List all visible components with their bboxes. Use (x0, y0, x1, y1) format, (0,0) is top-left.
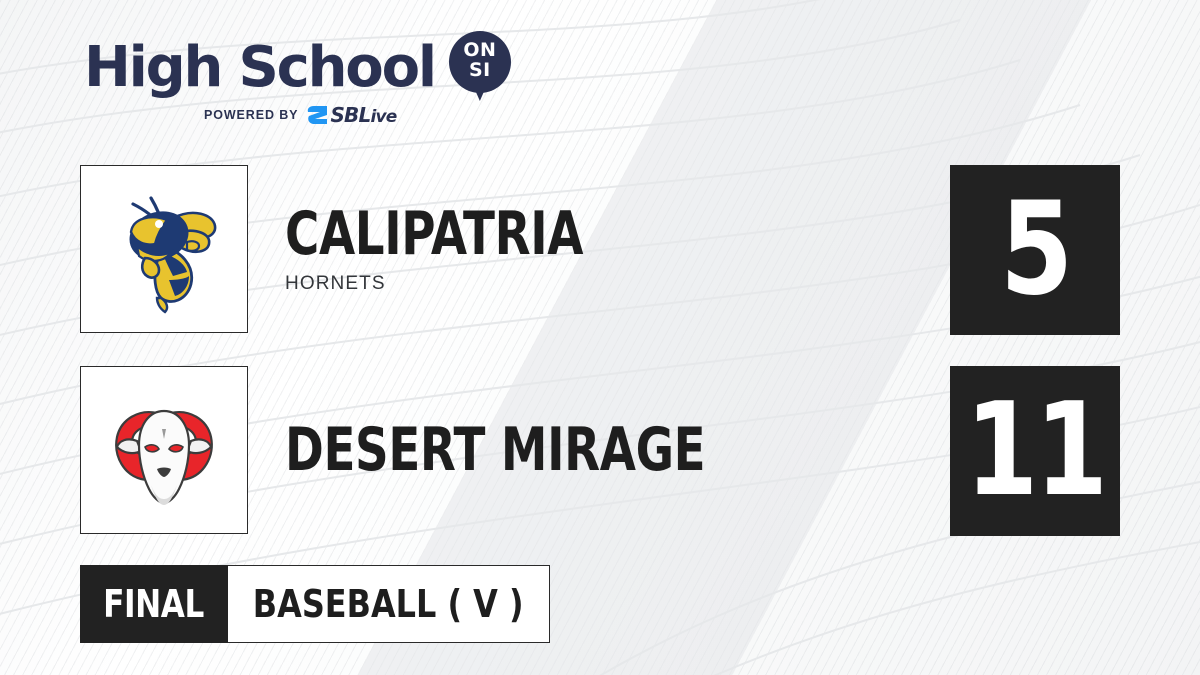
status-state-label: FINAL (104, 584, 205, 624)
team-mascot: HORNETS (285, 273, 667, 295)
brand-lockup: High School ON SI POWERED BY SBLive (84, 36, 514, 136)
team-name: DESERT MIRAGE (285, 419, 705, 481)
powered-by-row: POWERED BY SBLive (204, 104, 514, 126)
brand-primary-row: High School ON SI (84, 36, 514, 100)
sblive-lower: ive (370, 107, 396, 127)
powered-by-label: POWERED BY (204, 108, 298, 122)
sblive-logo: SBLive (307, 103, 396, 127)
team-logo-calipatria (80, 165, 248, 333)
status-bar: FINAL BASEBALL ( V ) (80, 565, 550, 643)
pin-label-on: ON (449, 40, 511, 60)
score-value: 11 (965, 366, 1104, 536)
score-box-calipatria: 5 (950, 165, 1120, 335)
status-badge: FINAL (80, 565, 228, 643)
hornet-logo-icon (99, 184, 229, 314)
sport-label: BASEBALL ( V ) (253, 584, 524, 624)
sblive-wordmark: SBLive (330, 103, 396, 127)
team-text-calipatria: CALIPATRIA HORNETS (285, 165, 667, 333)
pin-label-si: SI (449, 60, 511, 80)
team-row: DESERT MIRAGE 11 (80, 366, 1120, 536)
brand-wordmark: High School (84, 40, 435, 96)
team-logo-desert-mirage (80, 366, 248, 534)
on-si-pin-icon: ON SI (449, 31, 511, 105)
ram-logo-icon (99, 385, 229, 515)
sblive-upper: SBL (330, 103, 370, 127)
score-box-desert-mirage: 11 (950, 366, 1120, 536)
scoreboard-graphic: High School ON SI POWERED BY SBLive (0, 0, 1200, 675)
team-text-desert-mirage: DESERT MIRAGE (285, 366, 824, 534)
sport-badge: BASEBALL ( V ) (228, 565, 550, 643)
team-row: CALIPATRIA HORNETS 5 (80, 165, 1120, 335)
team-name: CALIPATRIA (285, 203, 583, 265)
sblive-bolt-icon (307, 105, 329, 125)
score-value: 5 (965, 165, 1104, 335)
